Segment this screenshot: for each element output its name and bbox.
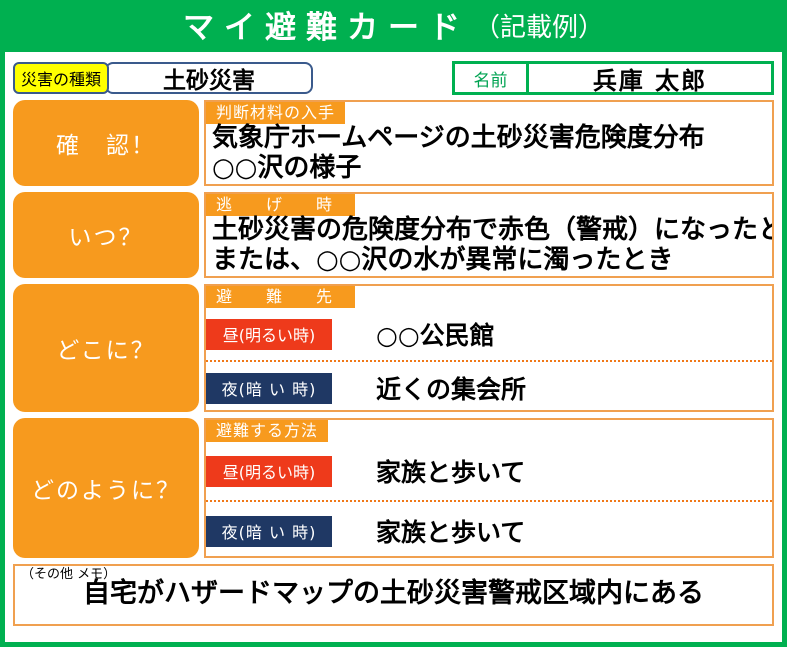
memo-value[interactable]: 自宅がハザードマップの土砂災害警戒区域内にある (15, 580, 772, 608)
row-where-day-value[interactable]: ○○公民館 (332, 316, 772, 352)
row-how-night: 夜(暗 い 時) 家族と歩いて (206, 500, 772, 558)
row-when-button[interactable]: いつ？ (13, 192, 199, 278)
row-when-line-2[interactable]: または、○○沢の水が異常に濁ったとき (212, 246, 766, 276)
row-how-button[interactable]: どのように？ (13, 418, 199, 558)
row-confirm-line-2[interactable]: ○○沢の様子 (212, 154, 766, 184)
row-where-night-value[interactable]: 近くの集会所 (332, 370, 772, 406)
card-title-bar: マイ避難カード （記載例） (4, 4, 783, 52)
row-confirm-tag: 判断材料の入手 (206, 102, 345, 124)
name-value[interactable]: 兵庫 太郎 (529, 64, 771, 92)
row-confirm-line-1[interactable]: 気象庁ホームページの土砂災害危険度分布 (212, 124, 766, 154)
name-label: 名前 (455, 64, 529, 92)
row-how-day-value[interactable]: 家族と歩いて (332, 453, 772, 489)
row-how: どのように？ 避難する方法 昼(明るい時) 家族と歩いて 夜(暗 い 時) 家族… (13, 418, 774, 558)
row-confirm: 確 認！ 判断材料の入手 気象庁ホームページの土砂災害危険度分布 ○○沢の様子 (13, 100, 774, 186)
info-row: 災害の種類 土砂災害 名前 兵庫 太郎 (13, 58, 774, 98)
row-when-tag: 逃 げ 時 (206, 194, 355, 216)
row-how-night-value[interactable]: 家族と歩いて (332, 513, 772, 549)
page-title: マイ避難カード (183, 13, 470, 44)
row-where-button[interactable]: どこに？ (13, 284, 199, 412)
page-subtitle: （記載例） (474, 15, 604, 41)
row-how-day-label: 昼(明るい時) (206, 456, 332, 487)
row-when: いつ？ 逃 げ 時 土砂災害の危険度分布で赤色（警戒）になったとき または、○○… (13, 192, 774, 278)
row-how-night-label: 夜(暗 い 時) (206, 516, 332, 547)
memo-box: （その他 メモ） 自宅がハザードマップの土砂災害警戒区域内にある (13, 564, 774, 626)
my-evacuation-card: マイ避難カード （記載例） 災害の種類 土砂災害 名前 兵庫 太郎 確 認！ 判… (0, 0, 787, 647)
row-where-tag: 避 難 先 (206, 286, 355, 308)
row-where-night-label: 夜(暗 い 時) (206, 373, 332, 404)
row-where-day: 昼(明るい時) ○○公民館 (206, 308, 772, 360)
name-group: 名前 兵庫 太郎 (452, 61, 774, 95)
section-rows: 確 認！ 判断材料の入手 気象庁ホームページの土砂災害危険度分布 ○○沢の様子 … (5, 100, 782, 558)
disaster-type-value[interactable]: 土砂災害 (105, 62, 313, 94)
disaster-type-label: 災害の種類 (13, 62, 109, 94)
disaster-type-group: 災害の種類 土砂災害 (13, 62, 313, 94)
row-where-day-label: 昼(明るい時) (206, 319, 332, 350)
row-where: どこに？ 避 難 先 昼(明るい時) ○○公民館 夜(暗 い 時) 近くの集会所 (13, 284, 774, 412)
row-where-night: 夜(暗 い 時) 近くの集会所 (206, 360, 772, 412)
row-when-body: 逃 げ 時 土砂災害の危険度分布で赤色（警戒）になったとき または、○○沢の水が… (204, 192, 774, 278)
row-how-day: 昼(明るい時) 家族と歩いて (206, 442, 772, 500)
row-confirm-body: 判断材料の入手 気象庁ホームページの土砂災害危険度分布 ○○沢の様子 (204, 100, 774, 186)
row-when-line-1[interactable]: 土砂災害の危険度分布で赤色（警戒）になったとき (212, 216, 766, 246)
row-how-tag: 避難する方法 (206, 420, 328, 442)
row-how-body: 避難する方法 昼(明るい時) 家族と歩いて 夜(暗 い 時) 家族と歩いて (204, 418, 774, 558)
row-confirm-button[interactable]: 確 認！ (13, 100, 199, 186)
row-confirm-lines: 気象庁ホームページの土砂災害危険度分布 ○○沢の様子 (206, 124, 772, 185)
row-when-lines: 土砂災害の危険度分布で赤色（警戒）になったとき または、○○沢の水が異常に濁った… (206, 216, 772, 277)
row-where-body: 避 難 先 昼(明るい時) ○○公民館 夜(暗 い 時) 近くの集会所 (204, 284, 774, 412)
